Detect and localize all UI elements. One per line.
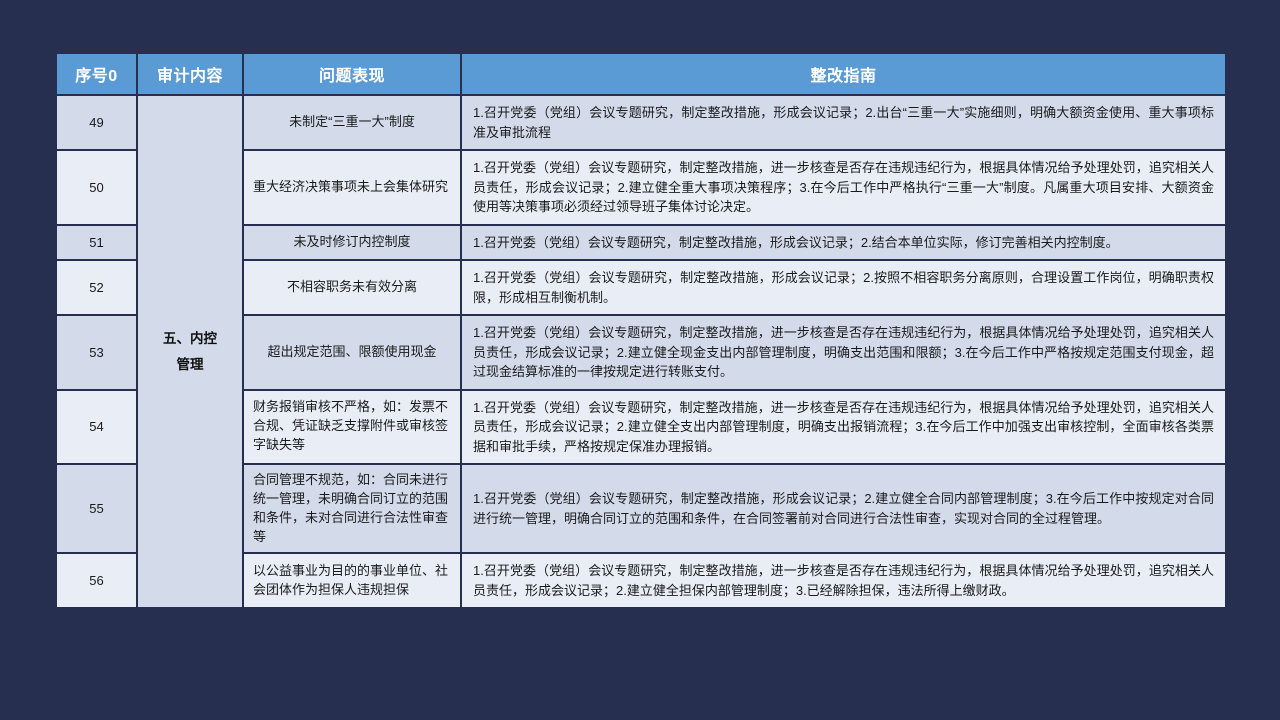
cell-issue-description: 重大经济决策事项未上会集体研究 [244,151,460,224]
cell-rectification-guide: 1.召开党委（党组）会议专题研究，制定整改措施，形成会议记录；2.出台“三重一大… [462,96,1225,149]
column-header-issue-description: 问题表现 [244,54,460,94]
table-row: 49 五、内控 管理 未制定“三重一大”制度 1.召开党委（党组）会议专题研究，… [57,96,1225,149]
column-header-rectification-guide: 整改指南 [462,54,1225,94]
cell-serial-number: 56 [57,554,136,607]
cell-rectification-guide: 1.召开党委（党组）会议专题研究，制定整改措施，进一步核查是否存在违规违纪行为，… [462,316,1225,389]
cell-rectification-guide: 1.召开党委（党组）会议专题研究，制定整改措施，形成会议记录；2.按照不相容职务… [462,261,1225,314]
audit-group-label-line1: 五、内控 [163,331,217,346]
cell-serial-number: 49 [57,96,136,149]
table-body: 49 五、内控 管理 未制定“三重一大”制度 1.召开党委（党组）会议专题研究，… [57,96,1225,607]
cell-serial-number: 54 [57,391,136,464]
cell-rectification-guide: 1.召开党委（党组）会议专题研究，制定整改措施，形成会议记录；2.结合本单位实际… [462,226,1225,260]
cell-rectification-guide: 1.召开党委（党组）会议专题研究，制定整改措施，进一步核查是否存在违规违纪行为，… [462,151,1225,224]
table-header-row: 序号0 审计内容 问题表现 整改指南 [57,54,1225,94]
cell-issue-description: 未及时修订内控制度 [244,226,460,260]
cell-issue-description: 未制定“三重一大”制度 [244,96,460,149]
cell-rectification-guide: 1.召开党委（党组）会议专题研究，制定整改措施，形成会议记录；2.建立健全合同内… [462,465,1225,552]
cell-serial-number: 53 [57,316,136,389]
cell-issue-description: 财务报销审核不严格，如：发票不合规、凭证缺乏支撑附件或审核签字缺失等 [244,391,460,464]
cell-serial-number: 55 [57,465,136,552]
cell-serial-number: 52 [57,261,136,314]
slide-canvas: 序号0 审计内容 问题表现 整改指南 49 五、内控 管理 未制定“三重一大”制… [0,0,1280,720]
cell-rectification-guide: 1.召开党委（党组）会议专题研究，制定整改措施，进一步核查是否存在违规违纪行为，… [462,554,1225,607]
table-header: 序号0 审计内容 问题表现 整改指南 [57,54,1225,94]
column-header-audit-content: 审计内容 [138,54,242,94]
cell-serial-number: 50 [57,151,136,224]
column-header-serial-number: 序号0 [57,54,136,94]
cell-serial-number: 51 [57,226,136,260]
cell-issue-description: 合同管理不规范，如：合同未进行统一管理，未明确合同订立的范围和条件，未对合同进行… [244,465,460,552]
cell-issue-description: 以公益事业为目的的事业单位、社会团体作为担保人违规担保 [244,554,460,607]
cell-rectification-guide: 1.召开党委（党组）会议专题研究，制定整改措施，进一步核查是否存在违规违纪行为，… [462,391,1225,464]
cell-issue-description: 不相容职务未有效分离 [244,261,460,314]
cell-audit-content-group: 五、内控 管理 [138,96,242,607]
audit-group-label-line2: 管理 [177,357,204,372]
cell-issue-description: 超出规定范围、限额使用现金 [244,316,460,389]
audit-rectification-guide-table: 序号0 审计内容 问题表现 整改指南 49 五、内控 管理 未制定“三重一大”制… [55,52,1227,609]
